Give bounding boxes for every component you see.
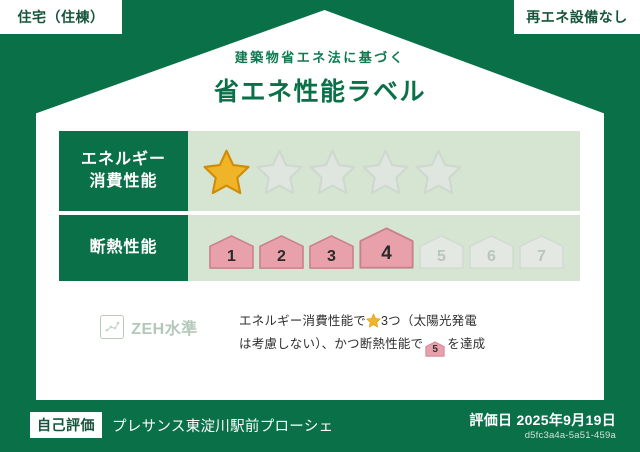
star-filled-icon — [202, 148, 251, 195]
energy-performance-label-box: エネルギー 消費性能 — [59, 131, 188, 211]
renewable-equipment-tag: 再エネ設備なし — [514, 0, 640, 34]
insulation-grade-1: 1 — [208, 234, 255, 270]
insulation-performance-label-box: 断熱性能 — [59, 215, 188, 281]
evaluation-date: 評価日 2025年9月19日 — [469, 410, 616, 430]
inline-grade-value: 5 — [425, 341, 445, 359]
insulation-grade-value: 2 — [277, 248, 286, 270]
zeh-note-section: ZEH水準 エネルギー消費性能で3つ（太陽光発電 は考慮しない）、かつ断熱性能で… — [59, 300, 580, 357]
energy-label-line2: 消費性能 — [89, 171, 157, 193]
label-footer: 自己評価 プレサンス東淀川駅前プローシェ 評価日 2025年9月19日 d5fc… — [0, 400, 640, 452]
insulation-grade-value: 3 — [327, 248, 336, 270]
page-title: 省エネ性能ラベル — [0, 72, 640, 108]
note-line1-before: エネルギー消費性能で — [239, 314, 366, 328]
insulation-grade-7: 7 — [518, 234, 565, 270]
energy-label-line1: エネルギー — [81, 149, 166, 171]
insulation-grade-value: 5 — [437, 248, 446, 270]
star-empty-icon — [308, 148, 357, 195]
insulation-grade-3: 3 — [308, 234, 355, 270]
chart-square-icon — [100, 315, 124, 339]
housing-type-tag: 住宅（住棟） — [0, 0, 122, 34]
achievement-note: エネルギー消費性能で3つ（太陽光発電 は考慮しない）、かつ断熱性能で5を達成 — [239, 300, 580, 357]
star-empty-icon — [361, 148, 410, 195]
zeh-standard-label: ZEH水準 — [131, 315, 198, 339]
energy-performance-body — [188, 131, 580, 211]
zeh-standard-indicator: ZEH水準 — [59, 300, 239, 339]
star-empty-icon — [414, 148, 463, 195]
insulation-performance-body: 1234567 — [188, 215, 580, 281]
insulation-grade-6: 6 — [468, 234, 515, 270]
evaluation-id: d5fc3a4a-5a51-459a — [525, 430, 616, 441]
note-line1-after: 3つ（太陽光発電 — [381, 314, 477, 328]
inline-star-icon — [366, 313, 381, 328]
note-line2-before: は考慮しない）、かつ断熱性能で — [239, 337, 423, 351]
self-evaluation-badge: 自己評価 — [30, 412, 102, 438]
title-block: 建築物省エネ法に基づく 省エネ性能ラベル — [0, 47, 640, 108]
insulation-grade-5: 5 — [418, 234, 465, 270]
insulation-label-line1: 断熱性能 — [89, 237, 157, 259]
insulation-grade-value: 1 — [227, 248, 236, 270]
note-line2-after: を達成 — [447, 337, 485, 351]
star-empty-icon — [255, 148, 304, 195]
energy-performance-row: エネルギー 消費性能 — [59, 131, 580, 211]
insulation-grade-value: 6 — [487, 248, 496, 270]
insulation-performance-row: 断熱性能 1234567 — [59, 215, 580, 281]
insulation-grade-2: 2 — [258, 234, 305, 270]
energy-performance-label: 住宅（住棟） 再エネ設備なし 建築物省エネ法に基づく 省エネ性能ラベル エネルギ… — [0, 0, 640, 452]
insulation-grade-value: 4 — [381, 243, 392, 270]
insulation-grade-value: 7 — [537, 248, 546, 270]
inline-grade-badge: 5 — [425, 341, 445, 357]
insulation-grade-scale: 1234567 — [202, 226, 565, 270]
insulation-grade-4: 4 — [358, 226, 415, 270]
building-name: プレサンス東淀川駅前プローシェ — [112, 415, 333, 436]
star-rating — [202, 148, 463, 195]
label-subtitle: 建築物省エネ法に基づく — [0, 47, 640, 66]
